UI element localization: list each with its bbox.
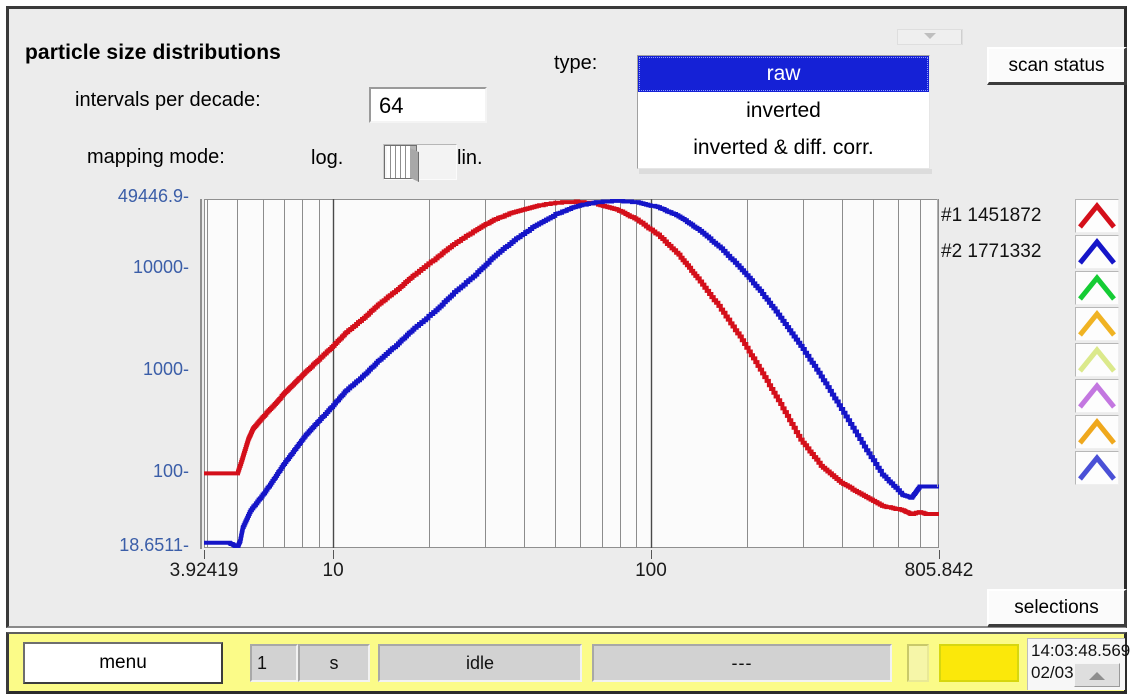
status-state-field: idle — [378, 644, 582, 682]
x-axis-tick-label: 805.842 — [879, 560, 999, 582]
status-bar: menu 1 s idle --- 14:03:48.569 02/03 — [6, 632, 1127, 694]
plot-curves — [204, 199, 939, 548]
main-panel: particle size distributions intervals pe… — [6, 6, 1127, 628]
legend-color-swatch[interactable] — [1075, 379, 1119, 413]
type-option-inverted[interactable]: inverted — [638, 93, 929, 129]
y-axis-tick-label: 1000‑ — [19, 359, 189, 380]
legend-color-swatch[interactable] — [1075, 271, 1119, 305]
selections-button[interactable]: selections — [987, 589, 1127, 627]
triangle-up-icon — [1089, 672, 1105, 680]
peak-icon — [1076, 200, 1118, 232]
legend-entry-label: #1 1451872 — [941, 205, 1041, 227]
legend-color-swatch[interactable] — [1075, 451, 1119, 485]
peak-icon — [1076, 236, 1118, 268]
scan-status-button[interactable]: scan status — [987, 47, 1127, 85]
peak-icon — [1076, 416, 1118, 448]
type-option-inverted-diff-corr[interactable]: inverted & diff. corr. — [638, 130, 929, 166]
status-indicator-small — [907, 644, 929, 682]
chart-plot-area[interactable] — [204, 199, 939, 548]
chevron-down-icon — [924, 33, 936, 39]
peak-icon — [1076, 272, 1118, 304]
status-count-field: 1 — [250, 644, 298, 682]
y-axis-tick-label: 100‑ — [19, 461, 189, 482]
clock-panel: 14:03:48.569 02/03 — [1027, 638, 1125, 690]
type-label: type: — [554, 52, 597, 75]
status-indicator-lamp — [939, 644, 1019, 682]
panel-background: particle size distributions intervals pe… — [9, 9, 1124, 626]
legend-divider — [937, 199, 938, 487]
x-axis-tick-mark — [333, 550, 334, 559]
peak-icon — [1076, 380, 1118, 412]
legend-color-swatch[interactable] — [1075, 199, 1119, 233]
x-axis-tick-label: 100 — [591, 560, 711, 582]
intervals-per-decade-input[interactable]: 64 — [369, 87, 487, 123]
status-unit-field: s — [298, 644, 370, 682]
x-axis-tick-label: 10 — [273, 560, 393, 582]
x-axis-tick-mark — [939, 550, 940, 559]
peak-icon — [1076, 308, 1118, 340]
x-axis-tick-label: 3.92419 — [144, 560, 264, 582]
mapping-mode-label: mapping mode: — [87, 146, 225, 169]
intervals-per-decade-label: intervals per decade: — [75, 89, 261, 112]
status-message-field: --- — [592, 644, 892, 682]
legend-color-swatch[interactable] — [1075, 235, 1119, 269]
y-axis-tick-label: 49446.9‑ — [19, 186, 189, 207]
y-axis-tick-label: 10000‑ — [19, 257, 189, 278]
type-listbox[interactable]: raw inverted inverted & diff. corr. — [637, 55, 930, 169]
legend-color-swatch[interactable] — [1075, 343, 1119, 377]
intervals-per-decade-value: 64 — [379, 93, 403, 119]
legend-color-swatch[interactable] — [1075, 415, 1119, 449]
page-title: particle size distributions — [25, 41, 281, 65]
menu-button[interactable]: menu — [23, 642, 223, 684]
mapping-mode-switch-handle-bevel — [410, 148, 419, 182]
x-axis-tick-mark — [651, 550, 652, 559]
clock-date: 02/03 — [1031, 663, 1074, 683]
type-listbox-shadow — [639, 169, 932, 174]
plot-axis-rule — [200, 199, 202, 549]
legend-color-swatch[interactable] — [1075, 307, 1119, 341]
peak-icon — [1076, 452, 1118, 484]
chart-legend: #1 1451872#2 1771332 — [937, 199, 1132, 489]
mapping-mode-lin-label: lin. — [457, 147, 483, 170]
mapping-mode-log-label: log. — [311, 147, 343, 170]
divider — [961, 30, 962, 44]
application-window: particle size distributions intervals pe… — [0, 0, 1133, 700]
peak-icon — [1076, 344, 1118, 376]
legend-entry-label: #2 1771332 — [941, 241, 1041, 263]
x-axis-tick-mark — [204, 550, 205, 559]
y-axis-tick-label: 18.6511‑ — [19, 535, 189, 556]
type-option-raw[interactable]: raw — [638, 56, 929, 92]
clock-time: 14:03:48.569 — [1031, 641, 1130, 661]
